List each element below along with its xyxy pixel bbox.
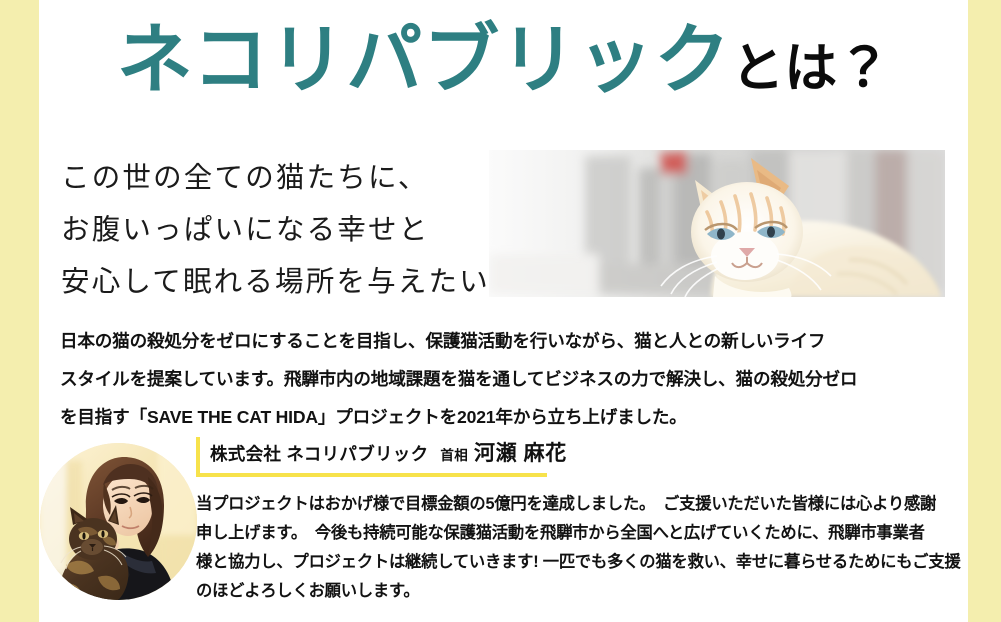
content-column: ネコリパブリックとは？ この世の全ての猫たちに、 お腹いっぱいになる幸せと 安心… [39, 0, 968, 622]
credit-person-name: 河瀬 麻花 [468, 442, 567, 465]
credit-message-line-4: のほどよろしくお願いします。 [196, 577, 968, 606]
page-title-main: ネコリパブリック [117, 15, 731, 104]
page-title-suffix: とは？ [731, 38, 890, 99]
credit-company: 株式会社 ネコリパブリック [210, 444, 428, 464]
decorative-band-right [968, 0, 1001, 622]
credit-message-line-1: 当プロジェクトはおかげ様で目標金額の5億円を達成しました。 ご支援いただいた皆様… [196, 490, 968, 519]
avatar [40, 443, 197, 600]
lead-statement: この世の全ての猫たちに、 お腹いっぱいになる幸せと 安心して眠れる場所を与えたい… [61, 152, 506, 308]
lead-line-2: お腹いっぱいになる幸せと [61, 204, 506, 256]
credit-message-line-2: 申し上げます。 今後も持続可能な保護猫活動を飛騨市から全国へと広げていくために、… [196, 519, 968, 548]
credit-message-line-3: 様と協力し、プロジェクトは継続していきます! 一匹でも多くの猫を救い、幸せに暮ら… [196, 548, 968, 577]
credit-accent-bar [196, 437, 200, 473]
credit-name-row: 株式会社 ネコリパブリック首相河瀬 麻花 [196, 437, 968, 473]
page-root: ネコリパブリックとは？ この世の全ての猫たちに、 お腹いっぱいになる幸せと 安心… [0, 0, 1001, 622]
page-title: ネコリパブリックとは？ [39, 22, 968, 98]
credit-role: 首相 [428, 448, 468, 463]
decorative-band-left [0, 0, 39, 622]
intro-line-3: を目指す「SAVE THE CAT HIDA」プロジェクトを2021年から立ち上… [60, 398, 968, 436]
hero-cat-photo [489, 150, 945, 297]
lead-line-3: 安心して眠れる場所を与えたい。 [61, 256, 506, 308]
credit-underline [196, 473, 547, 477]
lead-line-1: この世の全ての猫たちに、 [61, 152, 506, 204]
credit-block: 株式会社 ネコリパブリック首相河瀬 麻花 当プロジェクトはおかげ様で目標金額の5… [196, 437, 968, 606]
credit-message: 当プロジェクトはおかげ様で目標金額の5億円を達成しました。 ご支援いただいた皆様… [196, 490, 968, 606]
intro-line-1: 日本の猫の殺処分をゼロにすることを目指し、保護猫活動を行いながら、猫と人との新し… [60, 322, 968, 360]
intro-paragraph: 日本の猫の殺処分をゼロにすることを目指し、保護猫活動を行いながら、猫と人との新し… [60, 322, 968, 436]
intro-line-2: スタイルを提案しています。飛騨市内の地域課題を猫を通してビジネスの力で解決し、猫… [60, 360, 968, 398]
